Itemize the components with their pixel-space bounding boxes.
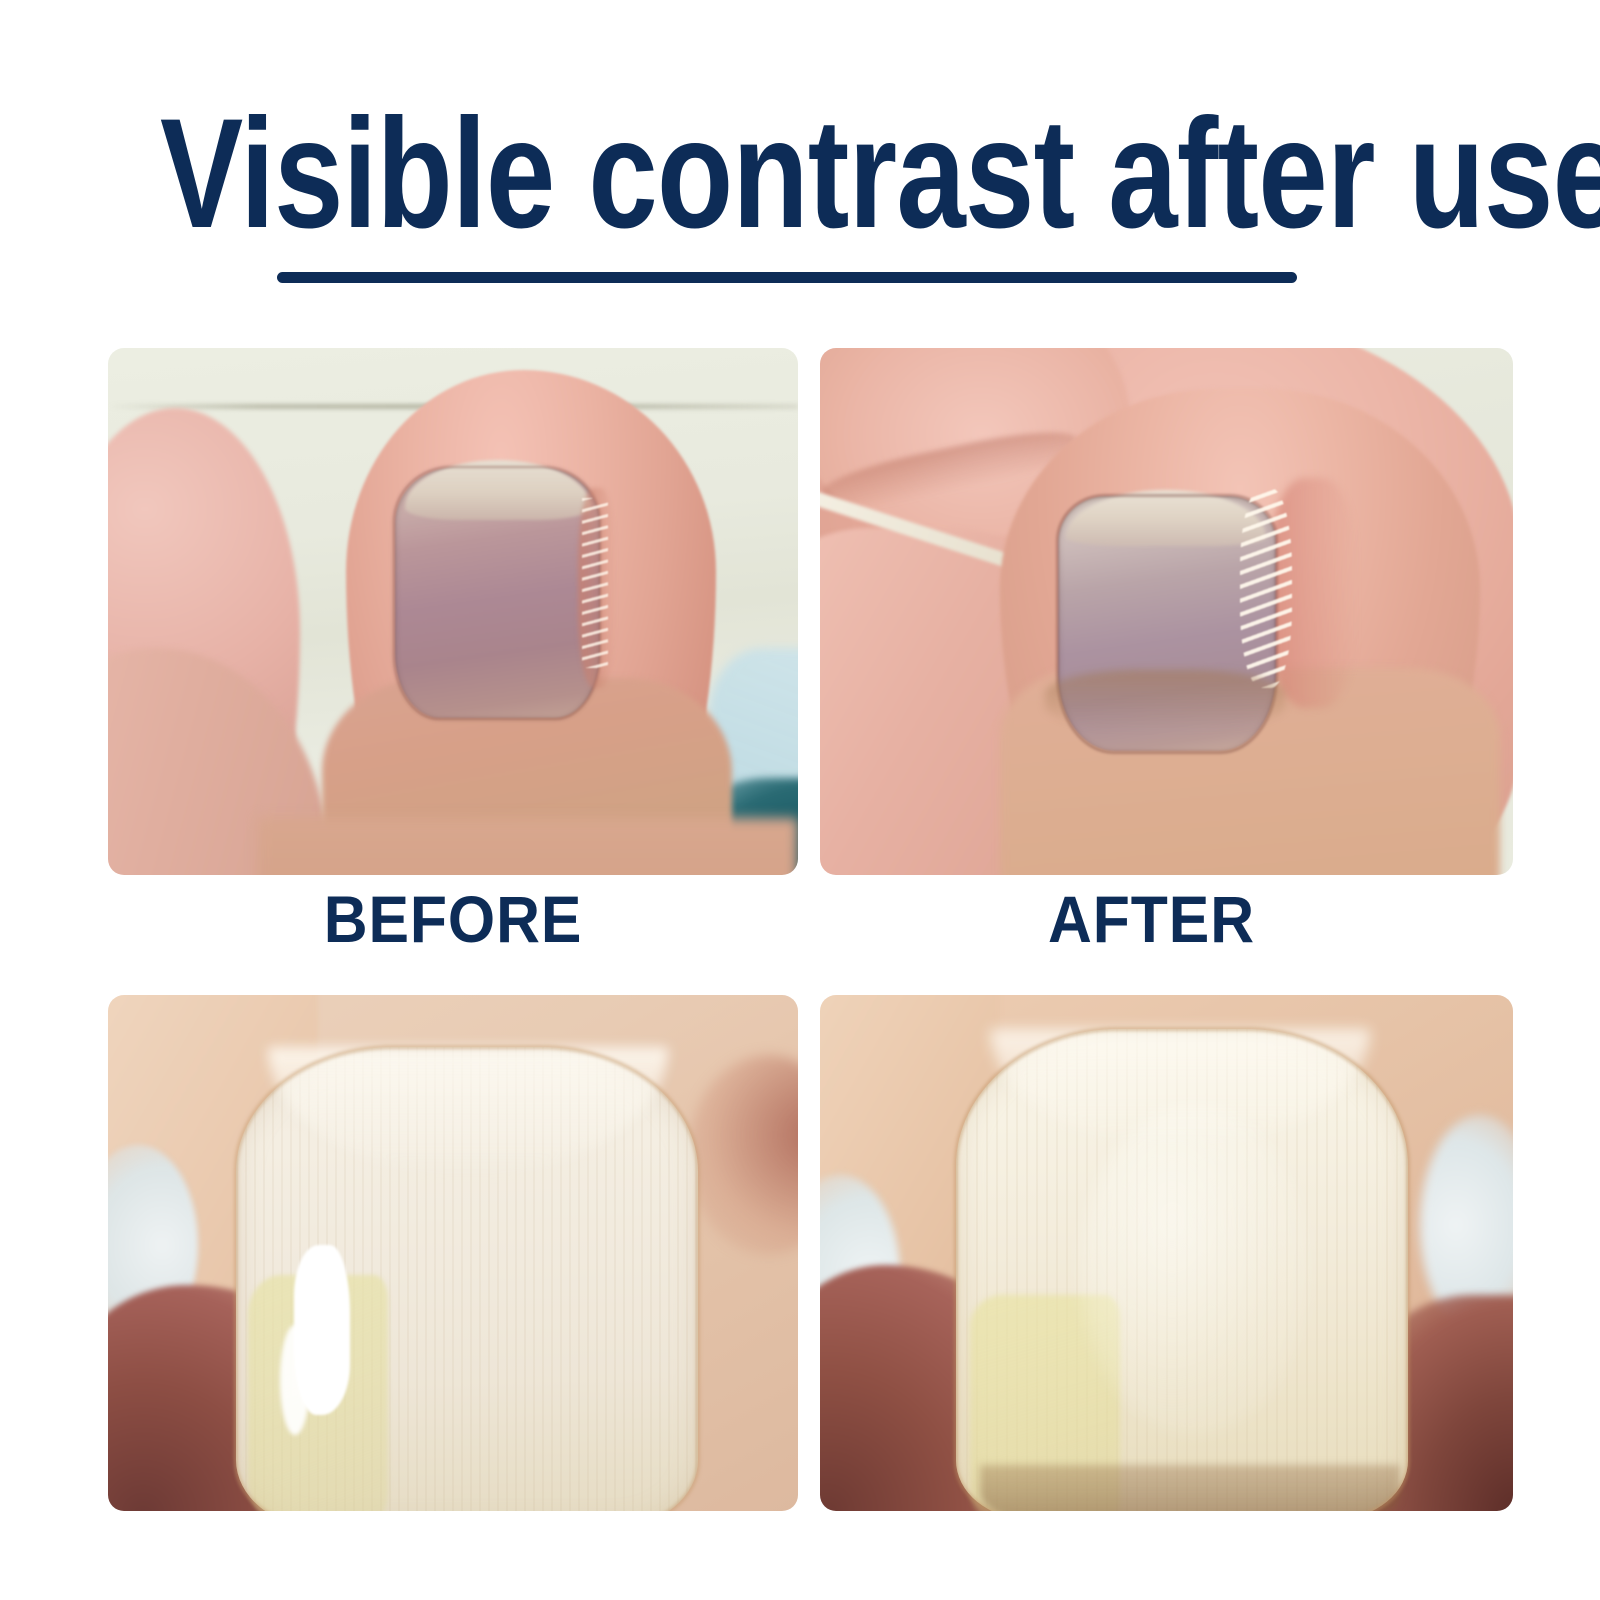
page-title: Visible contrast after use [160,96,1440,252]
photo-before-top-image [108,348,798,875]
label-after: AFTER [819,886,1484,952]
photo-before-bottom [108,995,798,1511]
photo-before-top [108,348,798,875]
label-before: BEFORE [36,886,870,952]
promo-card: Visible contrast after use [0,0,1600,1600]
photo-after-bottom [820,995,1513,1511]
photo-after-top [820,348,1513,875]
title-divider [277,272,1297,283]
photo-after-top-image [820,348,1513,875]
photo-after-bottom-image [820,995,1513,1511]
photo-before-bottom-image [108,995,798,1511]
